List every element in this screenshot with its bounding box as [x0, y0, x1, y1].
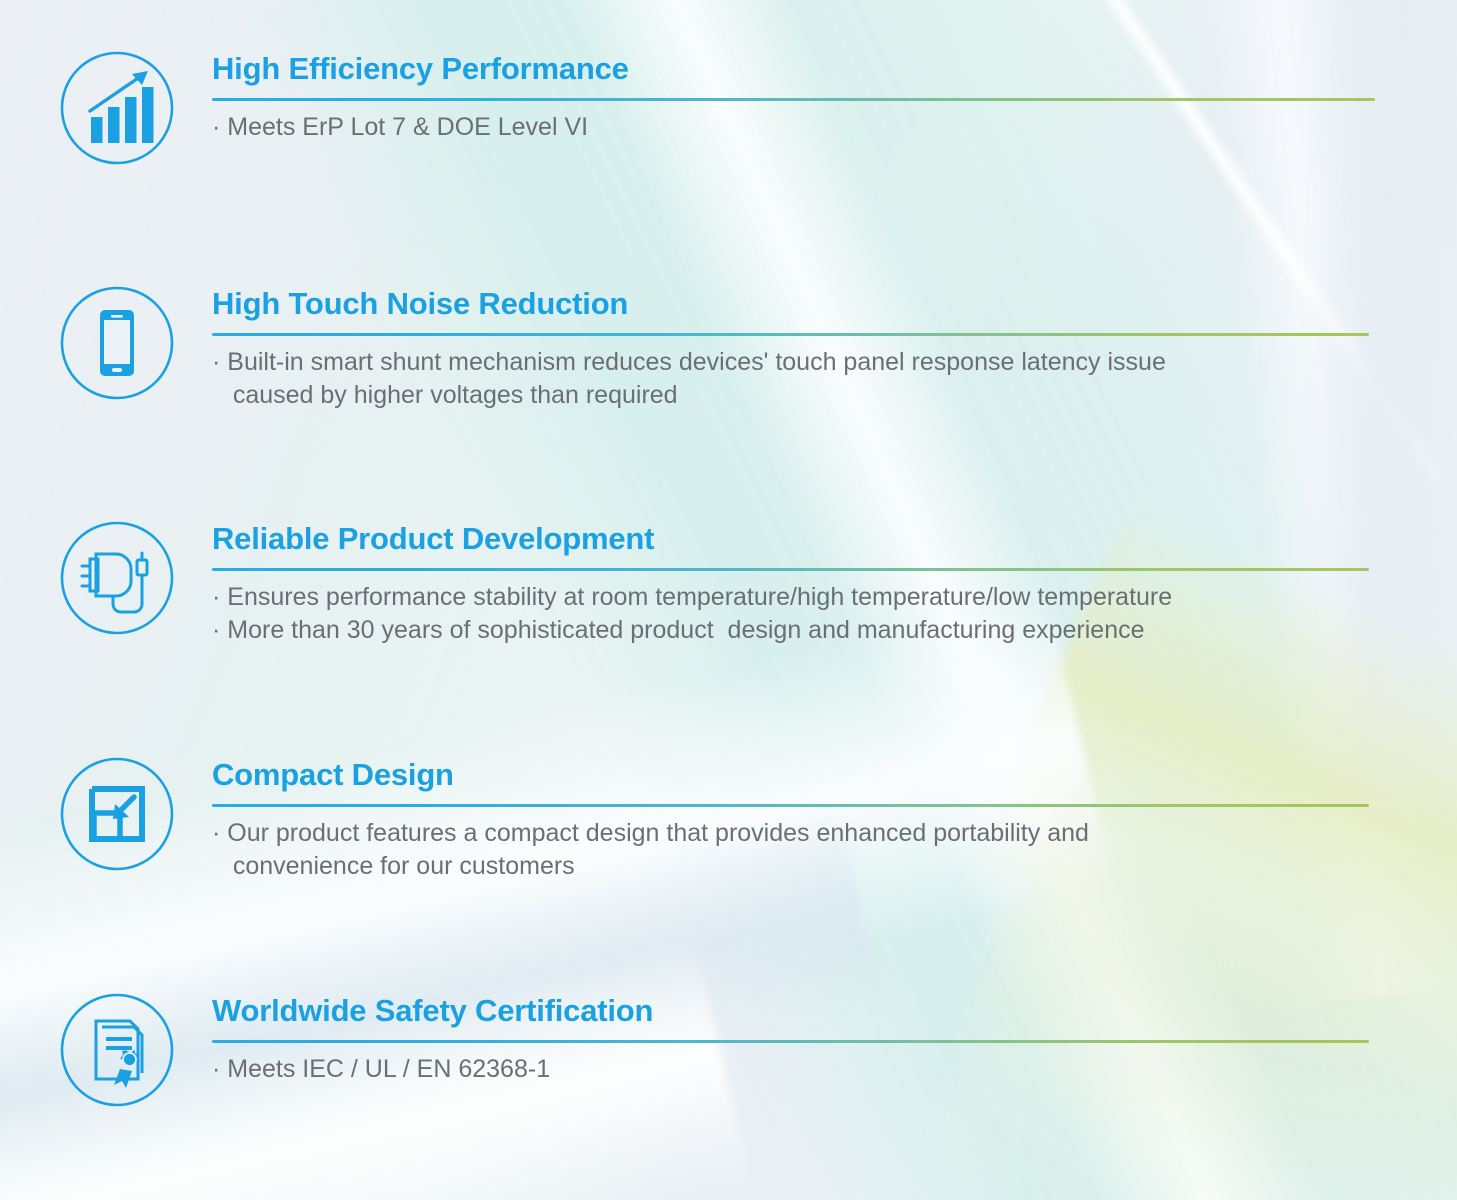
feature-line: convenience for our customers	[212, 850, 1457, 884]
feature-divider	[212, 333, 1369, 336]
feature-lines: · Our product features a compact design …	[212, 817, 1457, 884]
feature-divider	[212, 568, 1369, 571]
feature-lines: · Ensures performance stability at room …	[212, 581, 1457, 648]
feature-lines: · Built-in smart shunt mechanism reduces…	[212, 346, 1457, 413]
feature-line: · Meets ErP Lot 7 & DOE Level VI	[212, 111, 1457, 145]
feature-item-high-efficiency-performance: High Efficiency Performance · Meets ErP …	[0, 48, 1457, 168]
feature-lines: · Meets ErP Lot 7 & DOE Level VI	[212, 111, 1457, 145]
feature-body: Reliable Product Development · Ensures p…	[212, 518, 1457, 648]
feature-divider	[212, 1040, 1369, 1043]
feature-title: Compact Design	[212, 758, 1457, 793]
bar-chart-growth-icon	[57, 48, 177, 168]
compact-resize-icon	[57, 754, 177, 874]
feature-line: · More than 30 years of sophisticated pr…	[212, 614, 1457, 648]
feature-line: · Ensures performance stability at room …	[212, 581, 1457, 615]
feature-line: · Built-in smart shunt mechanism reduces…	[212, 346, 1457, 380]
feature-body: Compact Design · Our product features a …	[212, 754, 1457, 884]
feature-line: · Our product features a compact design …	[212, 817, 1457, 851]
feature-title: Reliable Product Development	[212, 522, 1457, 557]
power-adapter-icon	[57, 518, 177, 638]
feature-line: · Meets IEC / UL / EN 62368-1	[212, 1053, 1457, 1087]
feature-title: High Touch Noise Reduction	[212, 287, 1457, 322]
feature-body: High Touch Noise Reduction · Built-in sm…	[212, 283, 1457, 413]
certificate-seal-icon	[57, 990, 177, 1110]
feature-list: High Efficiency Performance · Meets ErP …	[0, 0, 1457, 1200]
feature-body: High Efficiency Performance · Meets ErP …	[212, 48, 1457, 144]
feature-item-high-touch-noise-reduction: High Touch Noise Reduction · Built-in sm…	[0, 283, 1457, 413]
feature-item-compact-design: Compact Design · Our product features a …	[0, 754, 1457, 884]
feature-title: High Efficiency Performance	[212, 52, 1457, 87]
feature-title: Worldwide Safety Certification	[212, 994, 1457, 1029]
feature-body: Worldwide Safety Certification · Meets I…	[212, 990, 1457, 1086]
feature-item-worldwide-safety-certification: Worldwide Safety Certification · Meets I…	[0, 990, 1457, 1110]
feature-item-reliable-product-development: Reliable Product Development · Ensures p…	[0, 518, 1457, 648]
smartphone-icon	[57, 283, 177, 403]
feature-divider	[212, 804, 1369, 807]
feature-divider	[212, 98, 1375, 101]
feature-lines: · Meets IEC / UL / EN 62368-1	[212, 1053, 1457, 1087]
feature-line: caused by higher voltages than required	[212, 379, 1457, 413]
